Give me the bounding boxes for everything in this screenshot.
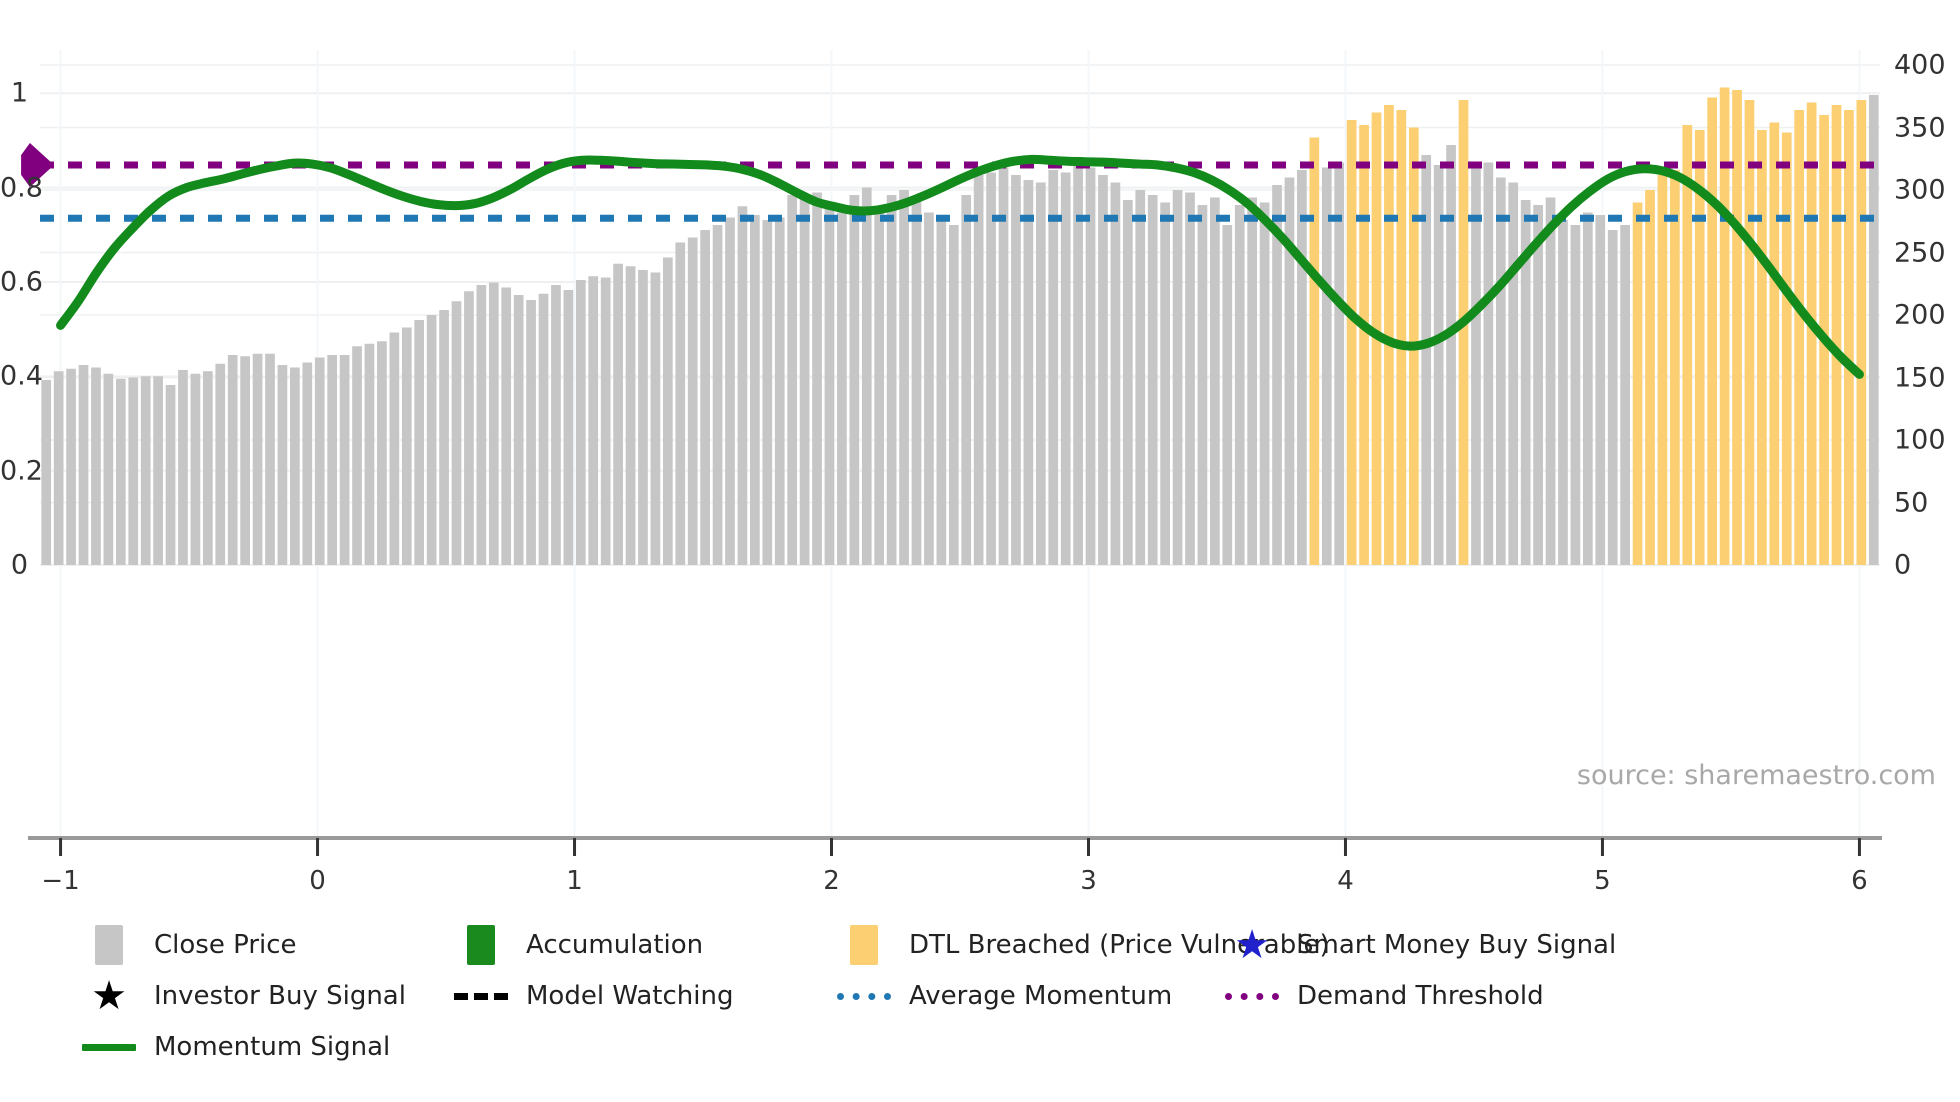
bar-close-price (849, 195, 859, 565)
close-price-swatch-icon (95, 925, 123, 965)
bar-close-price (340, 355, 350, 565)
y-right-tick-350: 350 (1894, 114, 1946, 141)
bar-dtl-breached (1720, 88, 1730, 566)
bar-close-price (439, 310, 449, 565)
bar-close-price (1024, 180, 1034, 565)
y-left-tick-0: 0 (0, 552, 28, 579)
bar-close-price (91, 368, 101, 566)
bar-dtl-breached (1359, 125, 1369, 565)
y-right-tick-150: 150 (1894, 364, 1946, 391)
x-tick-4: 3 (1080, 868, 1097, 894)
bar-close-price (1098, 175, 1108, 565)
y-left-tick-0-4: 0.4 (0, 363, 28, 390)
bar-dtl-breached (1658, 175, 1668, 565)
bar-close-price (128, 378, 138, 566)
bar-dtl-breached (1794, 110, 1804, 565)
bar-close-price (1148, 195, 1158, 565)
legend-label: Average Momentum (909, 981, 1172, 1011)
bar-close-price (315, 358, 325, 566)
y-right-tick-0: 0 (1894, 552, 1911, 579)
average-momentum-dot-swatch (837, 993, 891, 1000)
bar-close-price (526, 300, 536, 565)
star-icon: ★ (1234, 925, 1270, 965)
bar-close-price (501, 288, 511, 566)
bar-close-price (725, 218, 735, 566)
y-right-tick-300: 300 (1894, 177, 1946, 204)
bar-close-price (1247, 198, 1257, 566)
bar-close-price (1595, 215, 1605, 565)
bar-close-price (1086, 168, 1096, 566)
bar-close-price (949, 225, 959, 565)
x-tick-7: 6 (1851, 868, 1868, 894)
bar-close-price (302, 363, 312, 566)
legend-label: Model Watching (526, 981, 733, 1011)
bar-close-price (700, 230, 710, 565)
line-icon (82, 1044, 136, 1051)
bar-close-price (352, 346, 362, 565)
legend-item-dtl-breached[interactable]: DTL Breached (Price Vulnerable) (837, 925, 1225, 965)
legend-row-0: Close PriceAccumulationDTL Breached (Pri… (82, 925, 1932, 965)
bar-close-price (874, 208, 884, 566)
y-left-tick-0-2: 0.2 (0, 457, 28, 484)
bar-close-price (588, 276, 598, 565)
star-icon: ★ (91, 976, 127, 1016)
x-tick-3: 2 (823, 868, 840, 894)
smart-money-buy-signal-star-marker: ★ (1225, 925, 1279, 965)
bar-close-price (1198, 205, 1208, 565)
bar-close-price (675, 243, 685, 566)
bar-close-price (787, 195, 797, 565)
bar-close-price (961, 195, 971, 565)
y-right-tick-400: 400 (1894, 52, 1946, 79)
bar-close-price (576, 280, 586, 565)
bar-close-price (153, 376, 163, 565)
source-attribution: source: sharemaestro.com (1577, 760, 1936, 791)
bar-close-price (290, 368, 300, 566)
bar-close-price (1260, 203, 1270, 566)
bar-dtl-breached (1682, 125, 1692, 565)
bar-close-price (887, 195, 897, 565)
bar-dtl-breached (1757, 130, 1767, 565)
legend-row-2: Momentum Signal (82, 1027, 1932, 1067)
bar-close-price (713, 225, 723, 565)
bar-close-price (427, 315, 437, 565)
bar-dtl-breached (1769, 123, 1779, 566)
bar-close-price (638, 270, 648, 565)
bar-close-price (899, 190, 909, 565)
y-right-tick-250: 250 (1894, 239, 1946, 266)
bar-close-price (1334, 163, 1344, 566)
bar-close-price (1036, 183, 1046, 566)
bar-close-price (1434, 165, 1444, 565)
bar-close-price (54, 371, 64, 565)
legend-item-model-watching[interactable]: Model Watching (454, 981, 837, 1011)
bar-dtl-breached (1347, 120, 1357, 565)
dtl-breached-swatch-icon (850, 925, 878, 965)
bar-close-price (414, 320, 424, 565)
bar-close-price (738, 206, 748, 565)
legend-item-close-price[interactable]: Close Price (82, 925, 454, 965)
y-right-tick-100: 100 (1894, 427, 1946, 454)
bar-close-price (688, 238, 698, 566)
bar-close-price (178, 370, 188, 565)
bar-close-price (166, 385, 176, 565)
y-right-tick-200: 200 (1894, 302, 1946, 329)
bar-dtl-breached (1732, 90, 1742, 565)
bar-close-price (66, 369, 76, 565)
legend-item-accumulation[interactable]: Accumulation (454, 925, 837, 965)
bar-close-price (265, 354, 275, 565)
legend-label: Demand Threshold (1297, 981, 1544, 1011)
bar-close-price (215, 364, 225, 565)
legend-label: Accumulation (526, 930, 703, 960)
bar-close-price (1135, 190, 1145, 565)
bar-close-price (240, 356, 250, 565)
bar-close-price (825, 203, 835, 566)
bar-close-price (564, 290, 574, 565)
bar-close-price (402, 328, 412, 566)
threshold-lines (40, 165, 1880, 218)
bar-close-price (1546, 198, 1556, 566)
bar-dtl-breached (1459, 100, 1469, 565)
bar-close-price (912, 200, 922, 565)
bar-close-price (1235, 205, 1245, 565)
legend-label: Close Price (154, 930, 297, 960)
bar-close-price (1583, 213, 1593, 566)
accumulation-swatch (454, 925, 508, 965)
x-tick-2: 1 (566, 868, 583, 894)
dotted-line-icon (837, 993, 891, 1000)
bar-close-price (762, 220, 772, 565)
x-tick-1: 0 (309, 868, 326, 894)
bar-close-price (203, 371, 213, 565)
bar-close-price (1484, 163, 1494, 566)
bar-close-price (228, 355, 238, 565)
bar-close-price (104, 374, 114, 565)
bar-dtl-breached (1857, 100, 1867, 565)
bar-close-price (116, 379, 126, 565)
bar-close-price (1011, 175, 1021, 565)
legend-label: Smart Money Buy Signal (1297, 930, 1616, 960)
close-price-swatch (82, 925, 136, 965)
bar-close-price (1222, 225, 1232, 565)
bar-close-price (613, 264, 623, 565)
chart-legend: Close PriceAccumulationDTL Breached (Pri… (82, 925, 1932, 1078)
bar-close-price (377, 341, 387, 565)
bar-close-price (1210, 198, 1220, 566)
bar-close-price (539, 294, 549, 565)
bar-close-price (862, 188, 872, 566)
bar-close-price (775, 218, 785, 566)
bar-close-price (191, 374, 201, 565)
dotted-line-icon (1225, 993, 1279, 1000)
bar-dtl-breached (1782, 133, 1792, 566)
bar-close-price (79, 365, 89, 565)
x-tick-0: −1 (41, 868, 79, 894)
legend-item-average-momentum[interactable]: Average Momentum (837, 981, 1225, 1011)
bar-close-price (365, 344, 375, 565)
bar-close-price (1620, 225, 1630, 565)
bar-close-price (278, 365, 288, 565)
bar-close-price (477, 285, 487, 565)
bar-close-price (1508, 183, 1518, 566)
bar-close-price (1608, 230, 1618, 565)
bar-close-price (1446, 145, 1456, 565)
legend-item-momentum-signal[interactable]: Momentum Signal (82, 1032, 454, 1062)
bar-close-price (1185, 193, 1195, 566)
legend-row-1: ★Investor Buy SignalModel WatchingAverag… (82, 976, 1932, 1016)
bar-close-price (1322, 168, 1332, 566)
bar-dtl-breached (1397, 110, 1407, 565)
y-left-tick-1: 1 (0, 80, 28, 107)
bar-close-price (986, 173, 996, 566)
y-left-tick-0-6: 0.6 (0, 268, 28, 295)
bar-close-price (812, 193, 822, 566)
dashed-line-icon (454, 993, 508, 1000)
bar-close-price (1048, 170, 1058, 565)
bar-dtl-breached (1832, 105, 1842, 565)
bar-close-price (253, 354, 263, 565)
bar-close-price (663, 258, 673, 566)
bar-close-price (1471, 168, 1481, 566)
bar-close-price (1111, 183, 1121, 566)
bar-close-price (1061, 173, 1071, 566)
y-right-tick-50: 50 (1894, 489, 1928, 516)
bar-close-price (489, 283, 499, 566)
bar-close-price (837, 213, 847, 566)
legend-label: Momentum Signal (154, 1032, 390, 1062)
bar-close-price (601, 278, 611, 566)
x-tick-6: 5 (1594, 868, 1611, 894)
legend-item-demand-threshold[interactable]: Demand Threshold (1225, 981, 1625, 1011)
momentum-signal-line-swatch (82, 1044, 136, 1051)
bar-close-price (1160, 203, 1170, 566)
axis-lines (28, 838, 1882, 856)
bar-dtl-breached (1707, 98, 1717, 566)
investor-buy-signal-star-marker: ★ (82, 976, 136, 1016)
bar-dtl-breached (1844, 110, 1854, 565)
y-left-tick-0-8: 0.8 (0, 174, 28, 201)
bar-close-price (800, 198, 810, 566)
bar-close-price (937, 218, 947, 566)
demand-threshold-dot-swatch (1225, 993, 1279, 1000)
bar-close-price (141, 376, 151, 565)
bar-close-price (464, 291, 474, 565)
bar-close-price (551, 285, 561, 565)
legend-item-investor-buy-signal[interactable]: ★Investor Buy Signal (82, 976, 454, 1016)
bar-dtl-breached (1633, 203, 1643, 566)
bar-dtl-breached (1745, 100, 1755, 565)
legend-item-smart-money-buy-signal[interactable]: ★Smart Money Buy Signal (1225, 925, 1625, 965)
bar-close-price (327, 355, 337, 565)
bar-close-price (452, 301, 462, 565)
accumulation-swatch-icon (467, 925, 495, 965)
bar-close-price (1571, 225, 1581, 565)
bar-close-price (514, 295, 524, 565)
bar-close-price (1496, 178, 1506, 566)
bar-close-price (651, 273, 661, 566)
bar-dtl-breached (1645, 190, 1655, 565)
bar-close-price (389, 333, 399, 566)
bar-close-price (750, 215, 760, 565)
bar-close-price (924, 213, 934, 566)
bar-close-price (1297, 170, 1307, 565)
bar-close-price (1173, 190, 1183, 565)
bar-close-price (999, 168, 1009, 566)
bar-dtl-breached (1670, 170, 1680, 565)
chart-root: 10.80.60.40.20 400350300250200150100500 … (0, 0, 1960, 1102)
bar-close-price (1123, 200, 1133, 565)
legend-label: Investor Buy Signal (154, 981, 406, 1011)
bar-close-price (626, 266, 636, 565)
bar-dtl-breached (1309, 138, 1319, 566)
bar-close-price (974, 175, 984, 565)
bar-close-price (1533, 205, 1543, 565)
dtl-breached-swatch (837, 925, 891, 965)
bar-close-price (1073, 165, 1083, 565)
bar-close-price (1558, 220, 1568, 565)
model-watching-dash-swatch (454, 993, 508, 1000)
x-tick-5: 4 (1337, 868, 1354, 894)
